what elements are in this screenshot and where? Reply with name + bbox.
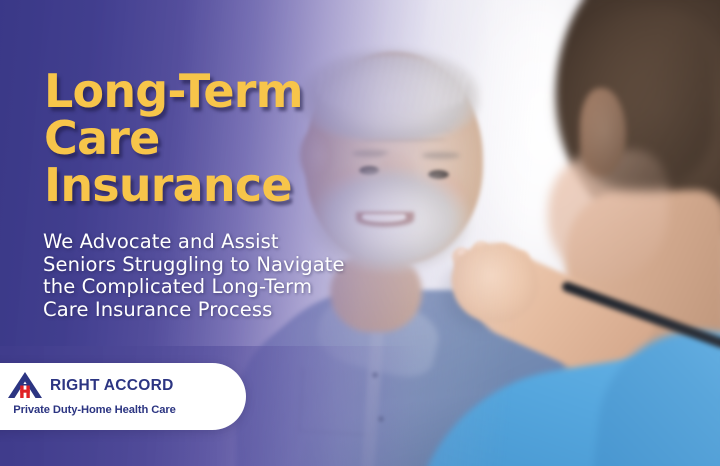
logo-tagline: Private Duty-Home Health Care	[3, 404, 186, 416]
house-roof-with-h-icon	[6, 371, 44, 401]
logo-badge[interactable]: RIGHT ACCORD Private Duty-Home Health Ca…	[0, 363, 246, 430]
page-title: Long-Term Care Insurance	[44, 68, 303, 209]
logo-primary-row: RIGHT ACCORD	[6, 369, 186, 403]
subheadline-text: We Advocate and Assist Seniors Strugglin…	[43, 231, 345, 321]
long-term-care-insurance-banner: Long-Term Care Insurance We Advocate and…	[0, 0, 720, 466]
logo-content: RIGHT ACCORD Private Duty-Home Health Ca…	[6, 369, 186, 416]
logo-brand-name: RIGHT ACCORD	[50, 377, 174, 395]
